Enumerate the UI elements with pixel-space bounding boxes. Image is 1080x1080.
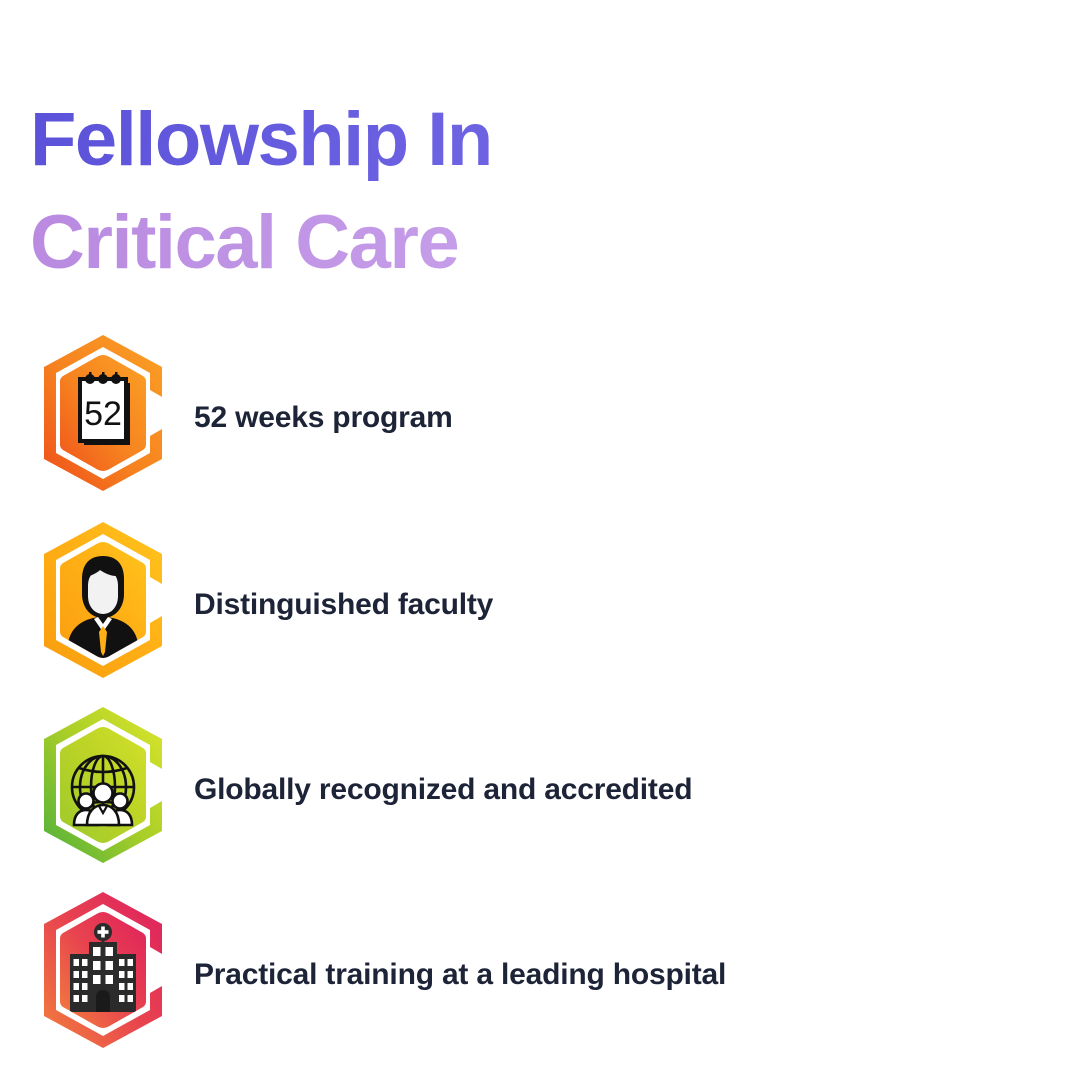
globe-people-icon — [38, 705, 168, 865]
feature-label-3: Globally recognized and accredited — [194, 773, 692, 807]
feature-list: 52 52 weeks program — [0, 325, 1080, 1065]
feature-badge-4 — [38, 890, 168, 1050]
calendar-52-icon: 52 — [38, 333, 168, 493]
list-item: 52 52 weeks program — [0, 325, 1080, 510]
feature-label-4: Practical training at a leading hospital — [194, 958, 726, 992]
business-person-icon — [38, 520, 168, 680]
feature-badge-2 — [38, 520, 168, 680]
page-title: Fellowship In Critical Care — [30, 88, 830, 294]
feature-label-2: Distinguished faculty — [194, 588, 493, 622]
list-item: Globally recognized and accredited — [0, 695, 1080, 880]
title-line-secondary: Critical Care — [30, 191, 830, 294]
list-item: Distinguished faculty — [0, 510, 1080, 695]
feature-badge-1: 52 — [38, 333, 168, 493]
poster-canvas: Fellowship In Critical Care — [0, 0, 1080, 1080]
badge-number-label: 52 — [84, 395, 122, 433]
title-line-primary: Fellowship In — [30, 88, 830, 191]
feature-badge-3 — [38, 705, 168, 865]
list-item: Practical training at a leading hospital — [0, 880, 1080, 1065]
hospital-building-icon — [38, 890, 168, 1050]
feature-label-1: 52 weeks program — [194, 401, 453, 435]
